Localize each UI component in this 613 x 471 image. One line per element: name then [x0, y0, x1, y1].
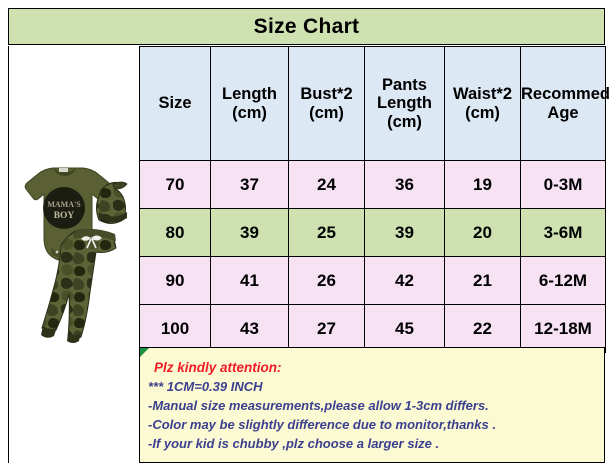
column-header-size: Size [140, 47, 211, 161]
cell-age: 0-3M [521, 161, 606, 209]
chart-title-bar: Size Chart [8, 8, 605, 45]
note-line-conversion: *** 1CM=0.39 INCH [148, 377, 604, 396]
column-header-bust: Bust*2 (cm) [289, 47, 365, 161]
bodysuit-text-line2: BOY [54, 211, 75, 221]
cell-bust: 27 [289, 305, 365, 353]
cell-pants: 36 [365, 161, 445, 209]
product-image-panel: MAMA'S BOY [8, 46, 139, 463]
size-table: Size Length (cm) Bust*2 (cm) Pants Lengt… [139, 46, 606, 353]
cell-waist: 20 [445, 209, 521, 257]
cell-bust: 25 [289, 209, 365, 257]
cell-bust: 26 [289, 257, 365, 305]
column-header-pants-length: Pants Length (cm) [365, 47, 445, 161]
note-heading: Plz kindly attention: [148, 358, 604, 377]
cell-age: 6-12M [521, 257, 606, 305]
cell-waist: 22 [445, 305, 521, 353]
cell-size: 90 [140, 257, 211, 305]
cell-bust: 24 [289, 161, 365, 209]
page-title: Size Chart [254, 15, 360, 39]
cell-length: 41 [211, 257, 289, 305]
table-row: 70 37 24 36 19 0-3M [140, 161, 606, 209]
table-header-row: Size Length (cm) Bust*2 (cm) Pants Lengt… [140, 47, 606, 161]
size-chart-page: Size Chart [0, 0, 613, 471]
cell-pants: 39 [365, 209, 445, 257]
baby-outfit-illustration: MAMA'S BOY [9, 146, 139, 361]
column-header-waist: Waist*2 (cm) [445, 47, 521, 161]
cell-length: 43 [211, 305, 289, 353]
table-row: 80 39 25 39 20 3-6M [140, 209, 606, 257]
column-header-recommended-age: Recommed Age [521, 47, 606, 161]
corner-marker-icon [140, 348, 149, 357]
note-line-manual-measure: -Manual size measurements,please allow 1… [148, 396, 604, 415]
note-line-color-difference: -Color may be slightly difference due to… [148, 415, 604, 434]
cell-size: 80 [140, 209, 211, 257]
cell-length: 39 [211, 209, 289, 257]
cell-pants: 45 [365, 305, 445, 353]
attention-note-box: Plz kindly attention: *** 1CM=0.39 INCH … [139, 347, 605, 463]
cell-size: 70 [140, 161, 211, 209]
table-row: 90 41 26 42 21 6-12M [140, 257, 606, 305]
cell-waist: 21 [445, 257, 521, 305]
cell-size: 100 [140, 305, 211, 353]
column-header-length: Length (cm) [211, 47, 289, 161]
cell-pants: 42 [365, 257, 445, 305]
cell-age: 3-6M [521, 209, 606, 257]
bodysuit-text-line1: MAMA'S [47, 200, 81, 209]
cell-length: 37 [211, 161, 289, 209]
note-line-chubby-kid: -If your kid is chubby ,plz choose a lar… [148, 434, 604, 453]
cell-waist: 19 [445, 161, 521, 209]
table-row: 100 43 27 45 22 12-18M [140, 305, 606, 353]
cell-age: 12-18M [521, 305, 606, 353]
